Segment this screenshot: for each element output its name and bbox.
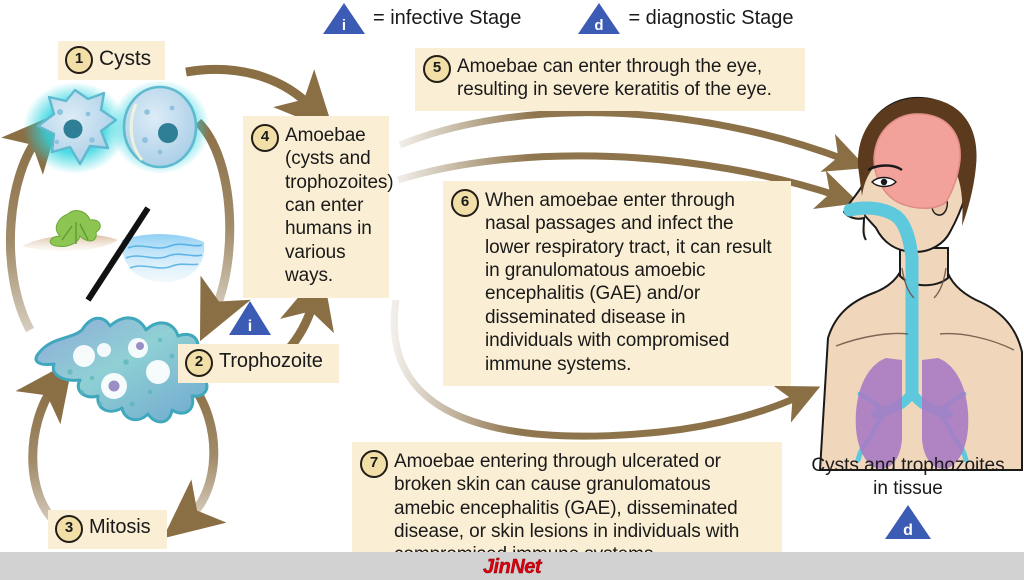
step-number-2: 2 xyxy=(185,349,213,377)
watermark: JinNet xyxy=(0,556,1024,579)
brain xyxy=(874,114,960,208)
step-text-6: When amoebae enter through nasal passage… xyxy=(485,189,777,376)
step-number-1: 1 xyxy=(65,46,93,74)
step-text-7: Amoebae entering through ulcerated or br… xyxy=(394,450,768,567)
legend-item-infective: i = infective Stage xyxy=(322,2,521,35)
human-torso-anatomy xyxy=(820,98,1022,470)
cycle-arrow-mitosis-to-trophozoite xyxy=(33,386,58,524)
tissue-caption: Cysts and trophozoites in tissue xyxy=(792,454,1024,500)
trophozoite-stage-marker: i xyxy=(248,318,252,335)
triangle-marker-icon: i xyxy=(322,2,366,35)
step-text-3: Mitosis xyxy=(89,515,151,540)
cyst-round xyxy=(110,80,210,174)
triangle-marker-icon: d xyxy=(884,504,932,540)
step-text-1: Cysts xyxy=(99,46,151,72)
step-label-2: 2 Trophozoite xyxy=(178,344,339,383)
legend-infective-label: = infective Stage xyxy=(373,7,521,30)
step-box-4: 4 Amoebae (cysts and trophozoites) can e… xyxy=(243,116,389,298)
diagram-canvas: i = infective Stage d = diagnostic Stage… xyxy=(0,0,1024,580)
tissue-caption-line1: Cysts and trophozoites xyxy=(792,454,1024,477)
step-number-5: 5 xyxy=(423,55,451,83)
legend: i = infective Stage d = diagnostic Stage xyxy=(322,2,794,35)
arrow-cysts-to-entry xyxy=(186,69,312,108)
legend-diagnostic-label: = diagnostic Stage xyxy=(628,7,793,30)
water xyxy=(122,234,204,282)
step-box-6: 6 When amoebae enter through nasal passa… xyxy=(443,181,791,386)
step-text-4: Amoebae (cysts and trophozoites) can ent… xyxy=(285,124,394,288)
legend-item-diagnostic: d = diagnostic Stage xyxy=(577,2,793,35)
step-label-1: 1 Cysts xyxy=(58,41,165,80)
step-text-2: Trophozoite xyxy=(219,349,323,374)
step-text-5: Amoebae can enter through the eye, resul… xyxy=(457,55,789,102)
step-label-3: 3 Mitosis xyxy=(48,510,167,549)
arrow-entry-to-eye xyxy=(400,113,846,160)
legend-infective-marker: i xyxy=(342,17,346,34)
cycle-arrow-trophozoite-to-cyst xyxy=(10,136,40,330)
step-number-4: 4 xyxy=(251,124,279,152)
tissue-diagnostic-marker: d xyxy=(903,522,913,539)
triangle-marker-icon: i xyxy=(228,300,272,336)
tissue-caption-line2: in tissue xyxy=(792,477,1024,500)
step-number-3: 3 xyxy=(55,515,83,543)
soil-vegetation xyxy=(22,211,118,252)
step-number-7: 7 xyxy=(360,450,388,478)
legend-diagnostic-marker: d xyxy=(595,17,604,34)
triangle-marker-icon: d xyxy=(577,2,621,35)
step-box-5: 5 Amoebae can enter through the eye, res… xyxy=(415,48,805,111)
step-number-6: 6 xyxy=(451,189,479,217)
